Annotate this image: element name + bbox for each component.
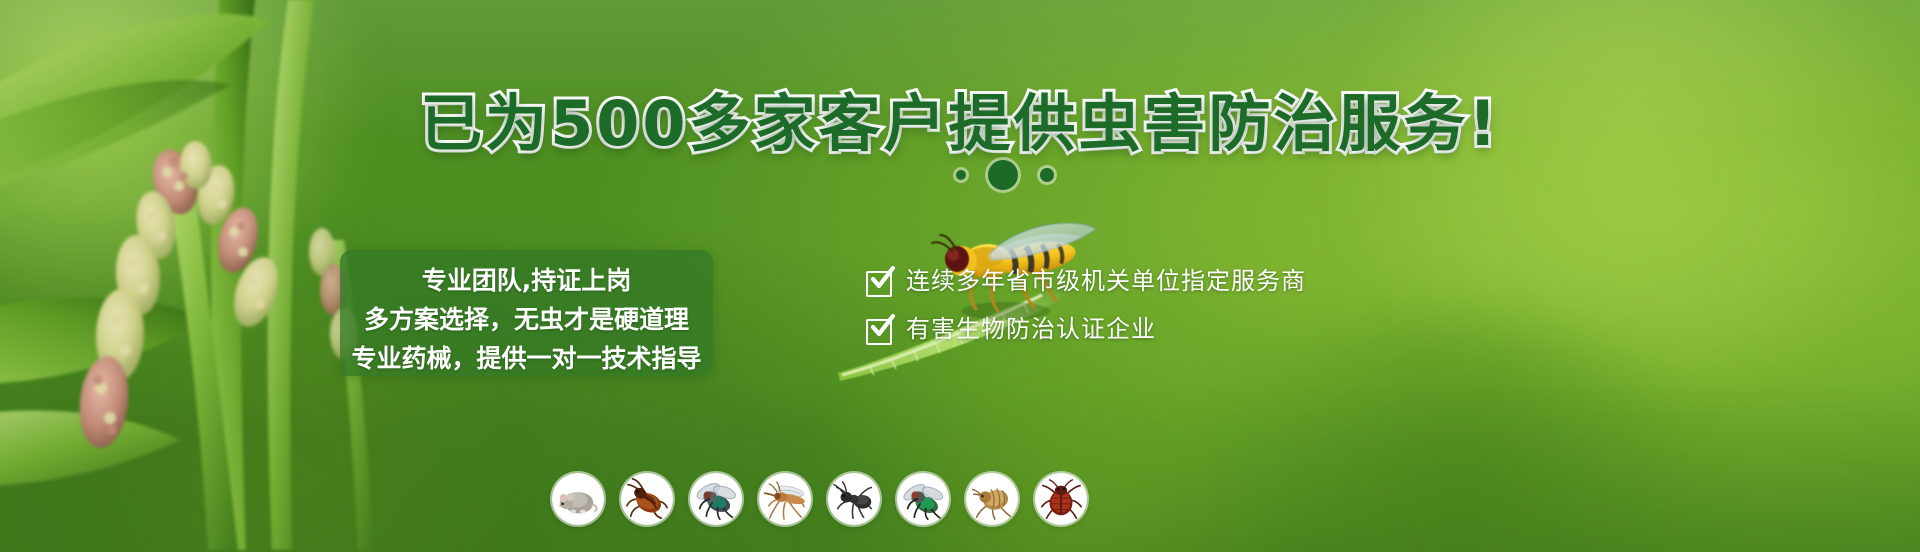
credentials-checklist: 连续多年省市级机关单位指定服务商 有害生物防治认证企业 [866,268,1306,342]
slogan-line-3: 专业药械，提供一对一技术指导 [340,344,713,374]
headline-text: 已为500多家客户提供虫害防治服务! [420,87,1500,160]
list-item: 连续多年省市级机关单位指定服务商 [866,268,1306,294]
page-title: 已为500多家客户提供虫害防治服务! [0,73,1920,163]
flea-icon[interactable] [966,473,1018,525]
bedbug-icon[interactable] [1035,473,1087,525]
decor-dot-large [988,160,1018,190]
decorative-dots [0,160,1920,190]
slogan-panel: 专业团队,持证上岗 多方案选择，无虫才是硬道理 专业药械，提供一对一技术指导 [340,250,713,376]
credential-label: 有害生物防治认证企业 [906,316,1156,342]
checkbox-checked-icon [866,268,892,294]
list-item: 有害生物防治认证企业 [866,316,1306,342]
mosquito-icon[interactable] [759,473,811,525]
checkbox-checked-icon [866,316,892,342]
blowfly-icon[interactable] [897,473,949,525]
cockroach-icon[interactable] [621,473,673,525]
promo-banner: 已为500多家客户提供虫害防治服务! 专业团队,持证上岗 多方案选择，无虫才是硬… [0,0,1920,552]
decor-dot-medium [1040,168,1054,182]
credential-label: 连续多年省市级机关单位指定服务商 [906,268,1306,294]
mouse-icon[interactable] [552,473,604,525]
decor-dot-small [956,170,966,180]
slogan-line-1: 专业团队,持证上岗 [340,266,713,296]
ant-icon[interactable] [828,473,880,525]
pest-icon-row [552,473,1087,525]
slogan-line-2: 多方案选择，无虫才是硬道理 [340,305,713,335]
fly-icon[interactable] [690,473,742,525]
